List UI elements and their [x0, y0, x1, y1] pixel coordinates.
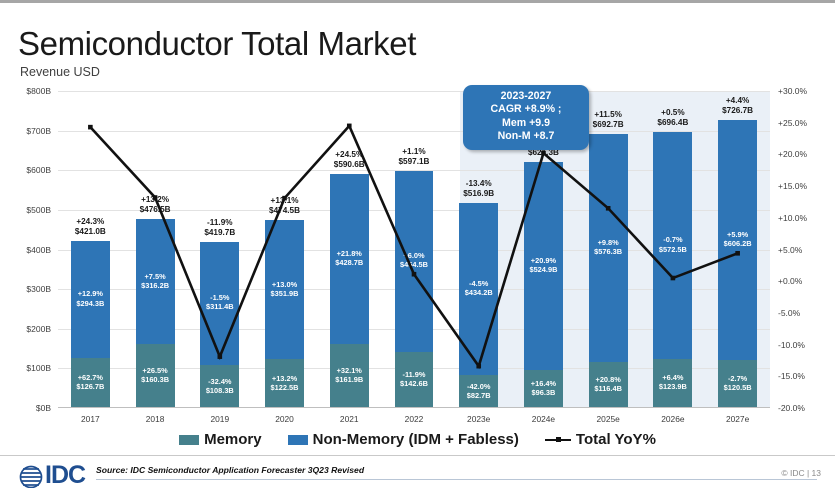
bar-column: +7.5%$316.2B+26.5%$160.3B+13.2%$476.5B20…	[136, 219, 175, 408]
segment-growth: +13.0%	[272, 280, 297, 289]
segment-value: $316.2B	[141, 281, 169, 290]
bar-segment-memory: -2.7%$120.5B	[718, 360, 757, 408]
total-value: $726.7B	[722, 106, 753, 115]
legend-item-yoy: Total YoY%	[545, 431, 656, 448]
segment-growth: +26.5%	[142, 366, 167, 375]
segment-growth: +62.7%	[78, 373, 103, 382]
segment-value: $524.9B	[529, 265, 557, 274]
y-axis-tick-label: $100B	[26, 363, 51, 373]
bar-label-memory: -11.9%$142.6B	[400, 370, 428, 388]
bar-segment-memory: +26.5%$160.3B	[136, 344, 175, 408]
bar-total-label: +13.2%$476.5B	[140, 195, 171, 215]
page-title: Semiconductor Total Market	[18, 25, 416, 63]
y2-axis-tick-label: +30.0%	[778, 86, 807, 96]
idc-wordmark: IDC	[45, 463, 85, 488]
segment-value: $96.3B	[532, 388, 556, 397]
y2-axis-tick-label: -5.0%	[778, 308, 800, 318]
copyright-note: © IDC | 13	[781, 468, 821, 478]
y2-axis-tick-label: -10.0%	[778, 340, 805, 350]
bar-column: +5.9%$606.2B-2.7%$120.5B+4.4%$726.7B2027…	[718, 120, 757, 408]
x-axis-tick-label: 2026e	[661, 414, 684, 424]
bar-total-label: +24.5%$590.6B	[334, 150, 365, 170]
total-value: $597.1B	[399, 157, 430, 166]
segment-growth: +13.2%	[272, 374, 297, 383]
segment-value: $572.5B	[659, 245, 687, 254]
total-growth: -11.9%	[207, 218, 233, 227]
x-axis-tick-label: 2025e	[597, 414, 620, 424]
legend-item-memory: Memory	[179, 431, 262, 448]
bar-label-memory: +16.4%$96.3B	[531, 379, 556, 397]
total-value: $419.7B	[204, 228, 235, 237]
total-value: $476.5B	[140, 205, 171, 214]
x-axis-tick-label: 2022	[405, 414, 424, 424]
bar-label-non-memory: +9.8%$576.3B	[594, 238, 622, 256]
bar-segment-non-memory: +12.9%$294.3B	[71, 241, 110, 358]
y2-axis-tick-label: -15.0%	[778, 371, 805, 381]
bar-total-label: +1.1%$597.1B	[399, 147, 430, 167]
bar-total-label: +4.4%$726.7B	[722, 96, 753, 116]
segment-value: $311.4B	[206, 302, 234, 311]
bar-column: -0.7%$572.5B+6.4%$123.9B+0.5%$696.4B2026…	[653, 132, 692, 408]
total-growth: +24.5%	[335, 150, 363, 159]
segment-growth: +6.4%	[662, 373, 683, 382]
y2-axis-tick-label: -20.0%	[778, 403, 805, 413]
bar-segment-non-memory: +9.8%$576.3B	[589, 134, 628, 362]
bar-label-non-memory: +7.5%$316.2B	[141, 272, 169, 290]
legend-line-marker-icon	[545, 435, 571, 445]
segment-value: $116.4B	[594, 384, 622, 393]
segment-growth: -0.7%	[663, 235, 682, 244]
x-axis-tick-label: 2023e	[467, 414, 490, 424]
bar-total-label: +11.5%$692.7B	[593, 110, 624, 130]
y2-axis-tick-label: +20.0%	[778, 149, 807, 159]
bar-column: -4.5%$434.2B-42.0%$82.7B-13.4%$516.9B202…	[459, 203, 498, 408]
bar-label-non-memory: +5.9%$606.2B	[724, 230, 752, 248]
total-growth: -13.4%	[466, 179, 492, 188]
x-axis-tick-label: 2020	[275, 414, 294, 424]
bar-label-non-memory: -1.5%$311.4B	[206, 293, 234, 311]
bar-total-label: +24.3%$421.0B	[75, 217, 106, 237]
y2-axis-tick-label: +15.0%	[778, 181, 807, 191]
bar-label-non-memory: +20.9%$524.9B	[529, 256, 557, 274]
bar-label-memory: +32.1%$161.9B	[335, 366, 363, 384]
bar-label-non-memory: +21.8%$428.7B	[335, 249, 363, 267]
segment-value: $454.5B	[400, 260, 428, 269]
bar-column: +9.8%$576.3B+20.8%$116.4B+11.5%$692.7B20…	[589, 134, 628, 408]
bar-segment-memory: +13.2%$122.5B	[265, 359, 304, 408]
y2-axis-tick-label: +0.0%	[778, 276, 802, 286]
segment-value: $606.2B	[724, 239, 752, 248]
bar-column: +6.0%$454.5B-11.9%$142.6B+1.1%$597.1B202…	[395, 171, 434, 408]
bar-label-memory: -2.7%$120.5B	[724, 374, 752, 392]
y-axis-tick-label: $200B	[26, 324, 51, 334]
bar-label-non-memory: +13.0%$351.9B	[271, 280, 299, 298]
chart-plot-area: $0B$100B$200B$300B$400B$500B$600B$700B$8…	[58, 91, 770, 408]
bar-segment-memory: -32.4%$108.3B	[200, 365, 239, 408]
source-note: Source: IDC Semiconductor Application Fo…	[96, 465, 364, 475]
segment-growth: +5.9%	[727, 230, 748, 239]
y-axis-tick-label: $700B	[26, 126, 51, 136]
y2-axis-tick-label: +5.0%	[778, 245, 802, 255]
bar-label-memory: +6.4%$123.9B	[659, 373, 687, 391]
segment-growth: -1.5%	[210, 293, 229, 302]
total-growth: +13.1%	[271, 196, 299, 205]
legend-swatch-memory-icon	[179, 435, 199, 445]
footer-divider	[96, 479, 817, 480]
x-axis-tick-label: 2024e	[532, 414, 555, 424]
segment-growth: -42.0%	[467, 382, 490, 391]
total-value: $516.9B	[463, 189, 494, 198]
segment-growth: +20.8%	[596, 375, 621, 384]
total-value: $692.7B	[593, 120, 624, 129]
bar-series: +12.9%$294.3B+62.7%$126.7B+24.3%$421.0B2…	[58, 91, 770, 408]
total-growth: +1.1%	[402, 147, 425, 156]
bar-segment-non-memory: +6.0%$454.5B	[395, 171, 434, 351]
slide-footer: IDC Source: IDC Semiconductor Applicatio…	[0, 455, 835, 493]
segment-value: $576.3B	[594, 247, 622, 256]
segment-growth: +32.1%	[337, 366, 362, 375]
bar-label-non-memory: +12.9%$294.3B	[76, 289, 104, 307]
bar-segment-non-memory: -0.7%$572.5B	[653, 132, 692, 359]
bar-label-memory: -42.0%$82.7B	[467, 382, 491, 400]
total-value: $474.5B	[269, 206, 300, 215]
legend-label-memory: Memory	[204, 431, 262, 448]
segment-growth: -2.7%	[728, 374, 747, 383]
bar-label-memory: -32.4%$108.3B	[206, 377, 234, 395]
segment-growth: +7.5%	[144, 272, 165, 281]
idc-globe-icon	[18, 464, 44, 488]
bar-column: +12.9%$294.3B+62.7%$126.7B+24.3%$421.0B2…	[71, 241, 110, 408]
bar-segment-non-memory: -4.5%$434.2B	[459, 203, 498, 375]
bar-segment-memory: +6.4%$123.9B	[653, 359, 692, 408]
y-axis-tick-label: $0B	[36, 403, 51, 413]
segment-value: $142.6B	[400, 379, 428, 388]
y-axis-tick-label: $600B	[26, 165, 51, 175]
callout-line-4: Non-M +8.7	[469, 130, 583, 143]
segment-value: $126.7B	[76, 382, 104, 391]
x-axis-tick-label: 2019	[210, 414, 229, 424]
bar-segment-non-memory: +21.8%$428.7B	[330, 174, 369, 344]
segment-growth: +9.8%	[598, 238, 619, 247]
slide-root: Semiconductor Total Market Revenue USD $…	[0, 0, 835, 493]
bar-segment-memory: +32.1%$161.9B	[330, 344, 369, 408]
segment-growth: -4.5%	[469, 279, 488, 288]
segment-value: $161.9B	[335, 375, 363, 384]
bar-label-memory: +62.7%$126.7B	[76, 373, 104, 391]
page-subtitle: Revenue USD	[20, 65, 100, 79]
y-axis-tick-label: $400B	[26, 245, 51, 255]
segment-value: $123.9B	[659, 382, 687, 391]
x-axis-tick-label: 2017	[81, 414, 100, 424]
total-value: $421.0B	[75, 227, 106, 236]
segment-value: $160.3B	[141, 375, 169, 384]
bar-column: -1.5%$311.4B-32.4%$108.3B-11.9%$419.7B20…	[200, 242, 239, 408]
y-axis-tick-label: $500B	[26, 205, 51, 215]
segment-growth: +6.0%	[403, 251, 424, 260]
segment-value: $351.9B	[271, 289, 299, 298]
bar-segment-non-memory: -1.5%$311.4B	[200, 242, 239, 365]
bar-segment-memory: -42.0%$82.7B	[459, 375, 498, 408]
bar-label-non-memory: -4.5%$434.2B	[465, 279, 493, 297]
bar-segment-memory: +62.7%$126.7B	[71, 358, 110, 408]
segment-growth: +21.8%	[337, 249, 362, 258]
cagr-callout: 2023-2027 CAGR +8.9% ; Mem +9.9 Non-M +8…	[463, 85, 589, 150]
y-axis-tick-label: $800B	[26, 86, 51, 96]
bar-total-label: -13.4%$516.9B	[463, 179, 494, 199]
bar-segment-memory: +20.8%$116.4B	[589, 362, 628, 408]
segment-growth: -11.9%	[402, 370, 425, 379]
bar-segment-memory: +16.4%$96.3B	[524, 370, 563, 408]
x-axis-tick-label: 2027e	[726, 414, 749, 424]
bar-column: +21.8%$428.7B+32.1%$161.9B+24.5%$590.6B2…	[330, 174, 369, 408]
bar-label-memory: +26.5%$160.3B	[141, 366, 169, 384]
legend-label-yoy: Total YoY%	[576, 431, 656, 448]
callout-line-1: 2023-2027	[469, 90, 583, 103]
segment-growth: +12.9%	[78, 289, 103, 298]
bar-label-memory: +20.8%$116.4B	[594, 375, 622, 393]
legend-label-non-memory: Non-Memory (IDM + Fabless)	[313, 431, 519, 448]
legend-swatch-non-memory-icon	[288, 435, 308, 445]
segment-value: $434.2B	[465, 288, 493, 297]
total-growth: +24.3%	[76, 217, 104, 226]
total-growth: +11.5%	[594, 110, 622, 119]
segment-value: $294.3B	[76, 299, 104, 308]
bar-segment-non-memory: +7.5%$316.2B	[136, 219, 175, 344]
bar-total-label: -11.9%$419.7B	[204, 218, 235, 238]
segment-value: $82.7B	[467, 391, 491, 400]
bar-segment-non-memory: +20.9%$524.9B	[524, 162, 563, 370]
callout-line-2: CAGR +8.9% ;	[469, 103, 583, 116]
segment-value: $120.5B	[724, 383, 752, 392]
bar-segment-memory: -11.9%$142.6B	[395, 352, 434, 409]
total-value: $590.6B	[334, 160, 365, 169]
segment-value: $428.7B	[335, 258, 363, 267]
total-growth: +13.2%	[141, 195, 169, 204]
total-growth: +0.5%	[661, 108, 684, 117]
segment-growth: +20.9%	[531, 256, 556, 265]
bar-label-non-memory: -0.7%$572.5B	[659, 235, 687, 253]
bar-total-label: +0.5%$696.4B	[657, 108, 688, 128]
callout-line-3: Mem +9.9	[469, 117, 583, 130]
y2-axis-tick-label: +10.0%	[778, 213, 807, 223]
y2-axis-tick-label: +25.0%	[778, 118, 807, 128]
segment-growth: +16.4%	[531, 379, 556, 388]
bar-label-non-memory: +6.0%$454.5B	[400, 251, 428, 269]
bar-column: +13.0%$351.9B+13.2%$122.5B+13.1%$474.5B2…	[265, 220, 304, 408]
bar-segment-non-memory: +13.0%$351.9B	[265, 220, 304, 359]
x-axis-tick-label: 2018	[146, 414, 165, 424]
x-axis-tick-label: 2021	[340, 414, 359, 424]
bar-total-label: +13.1%$474.5B	[269, 196, 300, 216]
segment-value: $122.5B	[271, 383, 299, 392]
bar-segment-non-memory: +5.9%$606.2B	[718, 120, 757, 360]
idc-logo: IDC	[18, 463, 85, 488]
total-growth: +4.4%	[726, 96, 749, 105]
x-axis-line	[58, 407, 770, 408]
y-axis-tick-label: $300B	[26, 284, 51, 294]
bar-label-memory: +13.2%$122.5B	[271, 374, 299, 392]
legend-item-non-memory: Non-Memory (IDM + Fabless)	[288, 431, 519, 448]
total-value: $696.4B	[657, 118, 688, 127]
bar-column: +20.9%$524.9B+16.4%$96.3B+20.2%$621.3B20…	[524, 162, 563, 408]
segment-value: $108.3B	[206, 386, 234, 395]
chart-legend: Memory Non-Memory (IDM + Fabless) Total …	[0, 431, 835, 448]
segment-growth: -32.4%	[208, 377, 231, 386]
